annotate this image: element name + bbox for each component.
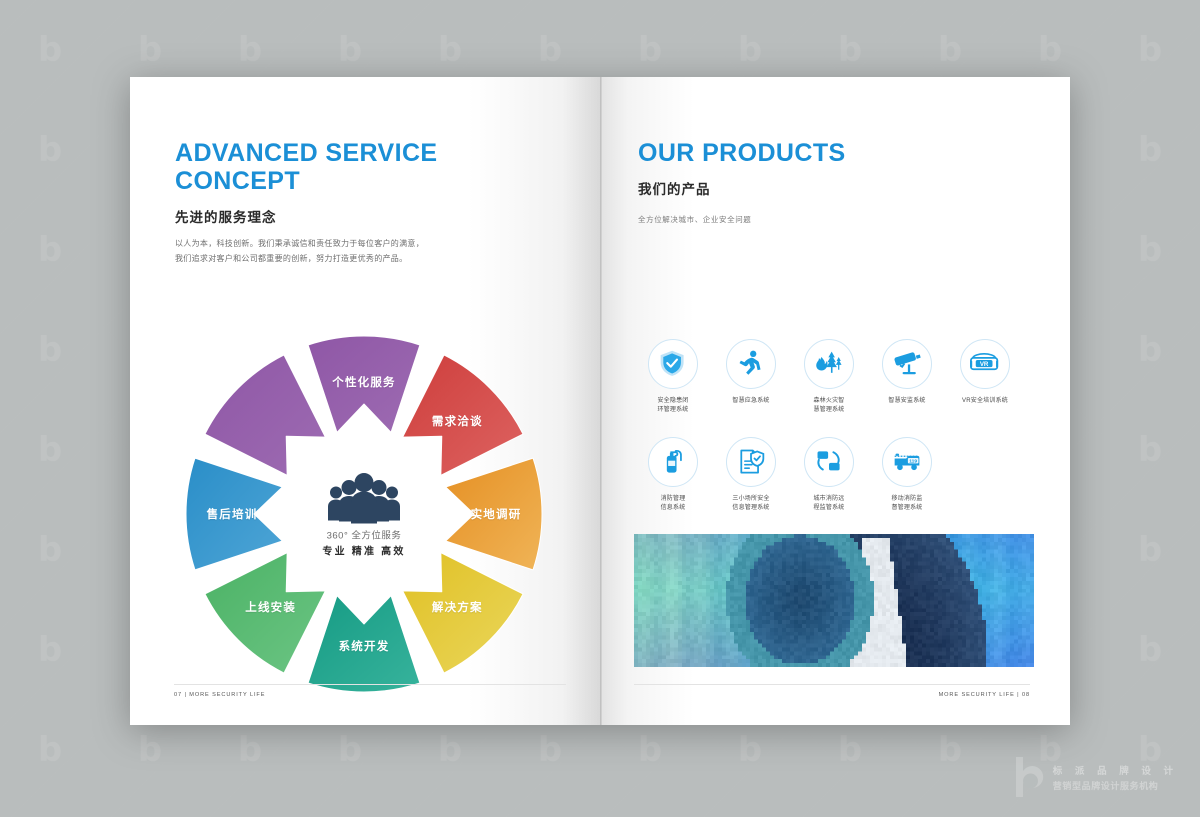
product-label: 智慧安监系统 xyxy=(888,397,925,406)
background-letter: b xyxy=(0,300,100,400)
left-body-line-2: 我们追求对客户和公司都重要的创新，努力打造更优秀的产品。 xyxy=(175,252,465,267)
document-shield-icon xyxy=(736,447,766,477)
wheel-segment[interactable] xyxy=(446,458,542,570)
product-item[interactable]: 智慧安监系统 xyxy=(868,339,946,415)
background-letter: b xyxy=(1100,800,1200,817)
remote-monitor-icon xyxy=(814,447,844,477)
shield-check-icon xyxy=(658,349,688,379)
background-letter: b xyxy=(200,800,300,817)
background-letter: b xyxy=(1100,400,1200,500)
wheel-segment[interactable] xyxy=(403,355,523,475)
right-page: OUR PRODUCTS 我们的产品 全方位解决城市、企业安全问题 安全隐患闭 … xyxy=(600,77,1070,725)
background-letter: b xyxy=(0,400,100,500)
background-letter: b xyxy=(100,800,200,817)
background-letter: b xyxy=(0,100,100,200)
background-letter: b xyxy=(0,600,100,700)
product-row-2: 消防管理 信息系统三小场所安全 信息管理系统城市消防远 程监管系统119移动消防… xyxy=(634,437,1034,513)
product-item[interactable]: 智慧应急系统 xyxy=(712,339,790,415)
product-label: 森林火灾智 慧管理系统 xyxy=(813,397,844,415)
right-footer-rule xyxy=(634,684,1030,685)
wheel-segment[interactable] xyxy=(308,336,420,432)
product-item[interactable]: 城市消防远 程监管系统 xyxy=(790,437,868,513)
product-icon-circle xyxy=(882,339,932,389)
background-letter: b xyxy=(1100,0,1200,100)
background-letter: b xyxy=(0,500,100,600)
wheel-segment[interactable] xyxy=(403,553,523,673)
watermark-line-2: 营销型品牌设计服务机构 xyxy=(1053,779,1178,792)
b-logo-icon xyxy=(1012,755,1046,799)
product-row-spacer xyxy=(634,415,1034,437)
right-heading-cn: 我们的产品 xyxy=(638,178,988,198)
wheel-segment[interactable] xyxy=(308,596,420,692)
brochure-spread: ADVANCED SERVICE CONCEPT 先进的服务理念 以人为本，科技… xyxy=(130,77,1070,725)
left-heading-cn: 先进的服务理念 xyxy=(175,206,505,226)
product-label: 智慧应急系统 xyxy=(732,397,769,406)
fire-extinguisher-icon xyxy=(658,447,688,477)
product-item[interactable]: 三小场所安全 信息管理系统 xyxy=(712,437,790,513)
forest-fire-icon xyxy=(814,349,844,379)
designer-watermark: 标 派 品 牌 设 计 营销型品牌设计服务机构 xyxy=(1012,755,1178,799)
product-icon-circle xyxy=(648,339,698,389)
background-letter: b xyxy=(800,800,900,817)
wheel-segment[interactable] xyxy=(205,553,325,673)
product-item[interactable]: 消防管理 信息系统 xyxy=(634,437,712,513)
product-item[interactable]: 安全隐患闭 环管理系统 xyxy=(634,339,712,415)
background-letter: b xyxy=(0,800,100,817)
background-letter: b xyxy=(700,800,800,817)
background-letter: b xyxy=(1100,600,1200,700)
product-item[interactable]: VRVR安全培训系统 xyxy=(946,339,1024,415)
product-label: 安全隐患闭 环管理系统 xyxy=(657,397,688,415)
left-page-header: ADVANCED SERVICE CONCEPT 先进的服务理念 xyxy=(175,139,505,226)
hero-photo-canvas xyxy=(634,534,1034,667)
left-heading-en: ADVANCED SERVICE CONCEPT xyxy=(175,139,505,195)
product-label: 三小场所安全 信息管理系统 xyxy=(732,495,769,513)
background-letter: b xyxy=(400,800,500,817)
product-label: 城市消防远 程监管系统 xyxy=(813,495,844,513)
svg-text:119: 119 xyxy=(909,459,917,465)
left-page: ADVANCED SERVICE CONCEPT 先进的服务理念 以人为本，科技… xyxy=(130,77,600,725)
right-page-header: OUR PRODUCTS 我们的产品 xyxy=(638,139,988,198)
background-letter: b xyxy=(1100,500,1200,600)
watermark-line-1: 标 派 品 牌 设 计 xyxy=(1053,763,1178,777)
right-page-footer: MORE SECURITY LIFE | 08 xyxy=(939,692,1030,698)
product-icon-circle xyxy=(648,437,698,487)
background-letter: b xyxy=(1000,800,1100,817)
service-wheel: 360° 全方位服务 专业 精准 高效 个性化服务需求洽谈实地调研解决方案系统开… xyxy=(174,332,554,697)
product-label: 移动消防监 督管理系统 xyxy=(891,495,922,513)
background-letter: b xyxy=(900,800,1000,817)
product-icon-circle xyxy=(726,339,776,389)
product-icon-circle xyxy=(804,339,854,389)
right-heading-en: OUR PRODUCTS xyxy=(638,139,988,167)
product-label: VR安全培训系统 xyxy=(962,397,1008,406)
fire-truck-119-icon: 119 xyxy=(892,447,922,477)
wheel-segment[interactable] xyxy=(186,458,282,570)
product-grid: 安全隐患闭 环管理系统智慧应急系统森林火灾智 慧管理系统智慧安监系统VRVR安全… xyxy=(634,339,1034,513)
product-label: 消防管理 信息系统 xyxy=(661,495,686,513)
product-item[interactable]: 森林火灾智 慧管理系统 xyxy=(790,339,868,415)
product-icon-circle xyxy=(804,437,854,487)
wheel-center-line-2: 专业 精准 高效 xyxy=(289,542,439,557)
left-page-footer: 07 | MORE SECURITY LIFE xyxy=(174,692,265,698)
product-item[interactable]: 119移动消防监 督管理系统 xyxy=(868,437,946,513)
background-letter: b xyxy=(600,800,700,817)
background-letter: b xyxy=(1100,300,1200,400)
background-letter: b xyxy=(0,700,100,800)
svg-text:VR: VR xyxy=(980,361,989,368)
watermark-text: 标 派 品 牌 设 计 营销型品牌设计服务机构 xyxy=(1053,763,1178,792)
wheel-center-line-1: 360° 全方位服务 xyxy=(289,527,439,541)
cctv-camera-icon xyxy=(892,349,922,379)
background-letter: b xyxy=(1100,100,1200,200)
product-icon-circle: VR xyxy=(960,339,1010,389)
product-icon-circle xyxy=(726,437,776,487)
background-letter: b xyxy=(0,0,100,100)
background-letter: b xyxy=(300,800,400,817)
background-letter: b xyxy=(1100,200,1200,300)
people-group-icon xyxy=(327,472,401,524)
hero-photo xyxy=(634,534,1034,667)
service-wheel-center: 360° 全方位服务 专业 精准 高效 xyxy=(289,472,439,557)
running-person-icon xyxy=(736,349,766,379)
vr-headset-icon: VR xyxy=(970,349,1000,379)
product-icon-circle: 119 xyxy=(882,437,932,487)
right-subtitle-wrap: 全方位解决城市、企业安全问题 xyxy=(638,214,988,225)
right-subtitle: 全方位解决城市、企业安全问题 xyxy=(638,214,988,225)
background-letter: b xyxy=(0,200,100,300)
background-letter: b xyxy=(500,800,600,817)
spread-gutter xyxy=(600,77,602,725)
left-body-line-1: 以人为本，科技创新。我们秉承诚信和责任致力于每位客户的满意， xyxy=(175,237,465,252)
left-body-text: 以人为本，科技创新。我们秉承诚信和责任致力于每位客户的满意， 我们追求对客户和公… xyxy=(175,237,465,267)
product-row-1: 安全隐患闭 环管理系统智慧应急系统森林火灾智 慧管理系统智慧安监系统VRVR安全… xyxy=(634,339,1034,415)
left-footer-rule xyxy=(174,684,566,685)
wheel-segment[interactable] xyxy=(205,355,325,475)
